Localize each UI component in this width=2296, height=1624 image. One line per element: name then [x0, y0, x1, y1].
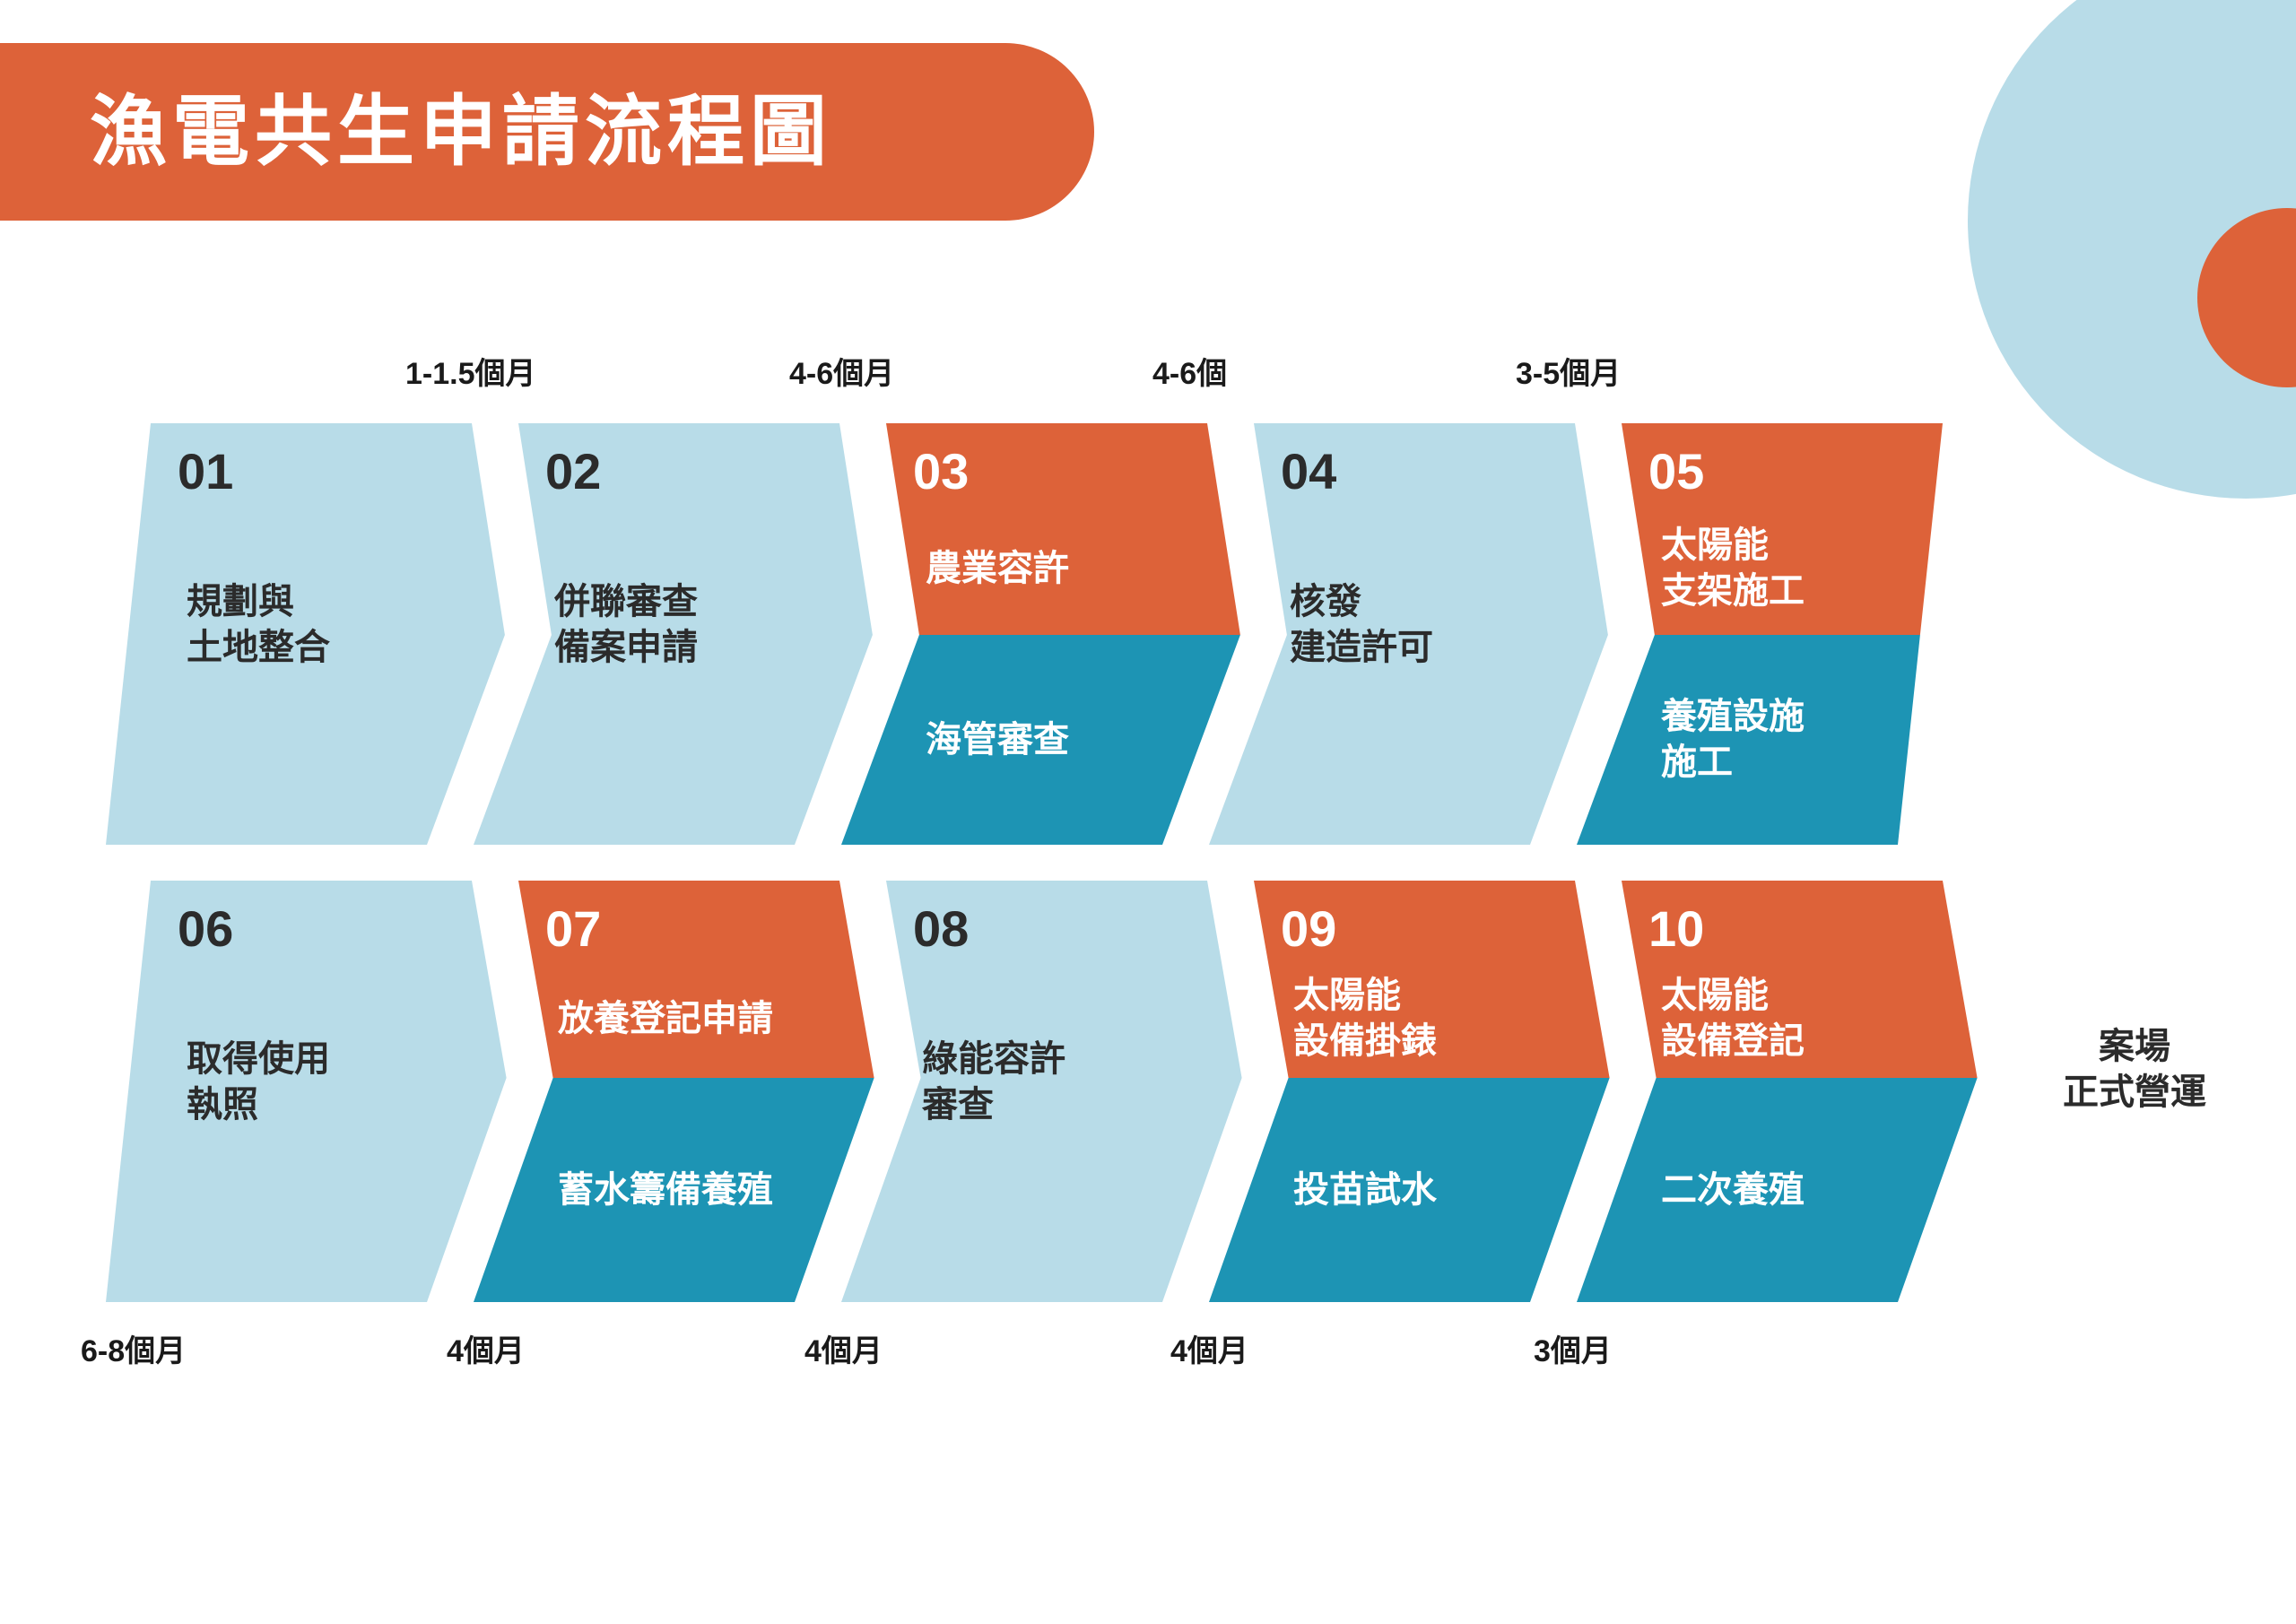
step-label-top-09: 太陽能 設備掛錶 [1293, 973, 1437, 1064]
step-number-01: 01 [178, 447, 233, 497]
top-duration-label-1: 1-1.5個月 [405, 359, 536, 389]
step-label-04: 核發 建造許可 [1290, 579, 1433, 671]
step-number-08: 08 [913, 904, 969, 954]
step-label-top-10: 太陽能 設備登記 [1661, 973, 1805, 1064]
step-label-bottom-07: 蓄水籌備養殖 [558, 1168, 773, 1213]
bottom-duration-label-2: 4個月 [447, 1336, 525, 1367]
step-number-07: 07 [545, 904, 601, 954]
step-label-bottom-10: 二次養殖 [1661, 1168, 1805, 1213]
step-label-06: 取得使用 執照 [187, 1037, 330, 1128]
title-banner: 漁電共生申請流程圖 [0, 43, 1094, 221]
step-label-02: 併聯審查 備案申請 [554, 579, 698, 671]
step-label-08: 綠能容許 審查 [922, 1037, 1065, 1128]
final-operation-note: 案場 正式營運 [2018, 1024, 2251, 1116]
step-number-10: 10 [1648, 904, 1704, 954]
step-number-03: 03 [913, 447, 969, 497]
step-label-top-03: 農業容許 [926, 546, 1069, 592]
step-label-01: 規劃與 土地整合 [187, 579, 330, 671]
top-duration-label-2: 4-6個月 [789, 359, 894, 389]
bottom-duration-label-5: 3個月 [1534, 1336, 1612, 1367]
flowchart-page: 漁電共生申請流程圖 01規劃與 土地整合02併聯審查 備案申請03農業容許海管審… [0, 0, 2296, 1624]
bottom-duration-label-4: 4個月 [1170, 1336, 1248, 1367]
top-duration-label-3: 4-6個 [1152, 359, 1227, 389]
step-label-top-07: 放養登記申請 [558, 996, 773, 1042]
step-label-top-05: 太陽能 支架施工 [1661, 523, 1805, 614]
step-number-09: 09 [1281, 904, 1336, 954]
step-number-02: 02 [545, 447, 601, 497]
page-title: 漁電共生申請流程圖 [90, 93, 832, 170]
top-duration-label-4: 3-5個月 [1516, 359, 1621, 389]
step-number-06: 06 [178, 904, 233, 954]
step-label-bottom-03: 海管審查 [926, 717, 1069, 763]
step-label-bottom-09: 投苗試水 [1293, 1168, 1437, 1213]
step-number-05: 05 [1648, 447, 1704, 497]
step-number-04: 04 [1281, 447, 1336, 497]
bottom-duration-label-3: 4個月 [804, 1336, 883, 1367]
bottom-duration-label-1: 6-8個月 [81, 1336, 186, 1367]
step-label-bottom-05: 養殖設施 施工 [1661, 694, 1805, 786]
flow-diagram [0, 0, 2296, 1624]
